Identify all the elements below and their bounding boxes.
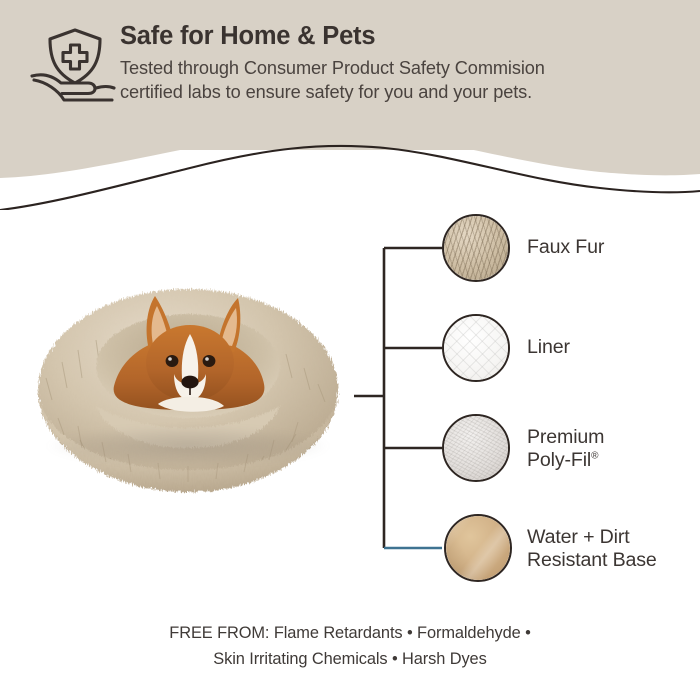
shield-cross-hand-icon (26, 24, 124, 112)
premium-poly-fil-texture (444, 416, 508, 480)
faux-fur-swatch[interactable] (442, 214, 510, 282)
bed-shadow (48, 426, 328, 466)
product-image (18, 258, 358, 508)
water-dirt-resistant-base-swatch[interactable] (444, 514, 512, 582)
premium-poly-fil-swatch[interactable] (442, 414, 510, 482)
faux-fur-label: Faux Fur (527, 236, 604, 259)
liner-swatch[interactable] (442, 314, 510, 382)
faux-fur-texture (444, 216, 508, 280)
liner-texture (444, 316, 508, 380)
premium-poly-fil-label-text: Premium Poly-Fil (527, 426, 604, 471)
registered-mark-icon: ® (591, 451, 598, 462)
free-from-line-1: FREE FROM: Flame Retardants • Formaldehy… (0, 620, 700, 646)
header-subtitle-line-1: Tested through Consumer Product Safety C… (120, 56, 690, 80)
wave-divider (0, 118, 700, 210)
infographic-page: Safe for Home & Pets Tested through Cons… (0, 0, 700, 700)
water-dirt-resistant-base-texture (446, 516, 510, 580)
water-dirt-resistant-base-label: Water + Dirt Resistant Base (527, 526, 657, 572)
header-subtitle-line-2: certified labs to ensure safety for you … (120, 80, 690, 104)
header-subtitle: Tested through Consumer Product Safety C… (120, 56, 690, 104)
free-from-footer: FREE FROM: Flame Retardants • Formaldehy… (0, 620, 700, 673)
free-from-line-2: Skin Irritating Chemicals • Harsh Dyes (0, 646, 700, 672)
premium-poly-fil-label: Premium Poly-Fil® (527, 426, 604, 472)
header-text-block: Safe for Home & Pets Tested through Cons… (120, 22, 690, 104)
page-title: Safe for Home & Pets (120, 22, 690, 50)
liner-label: Liner (527, 336, 570, 359)
